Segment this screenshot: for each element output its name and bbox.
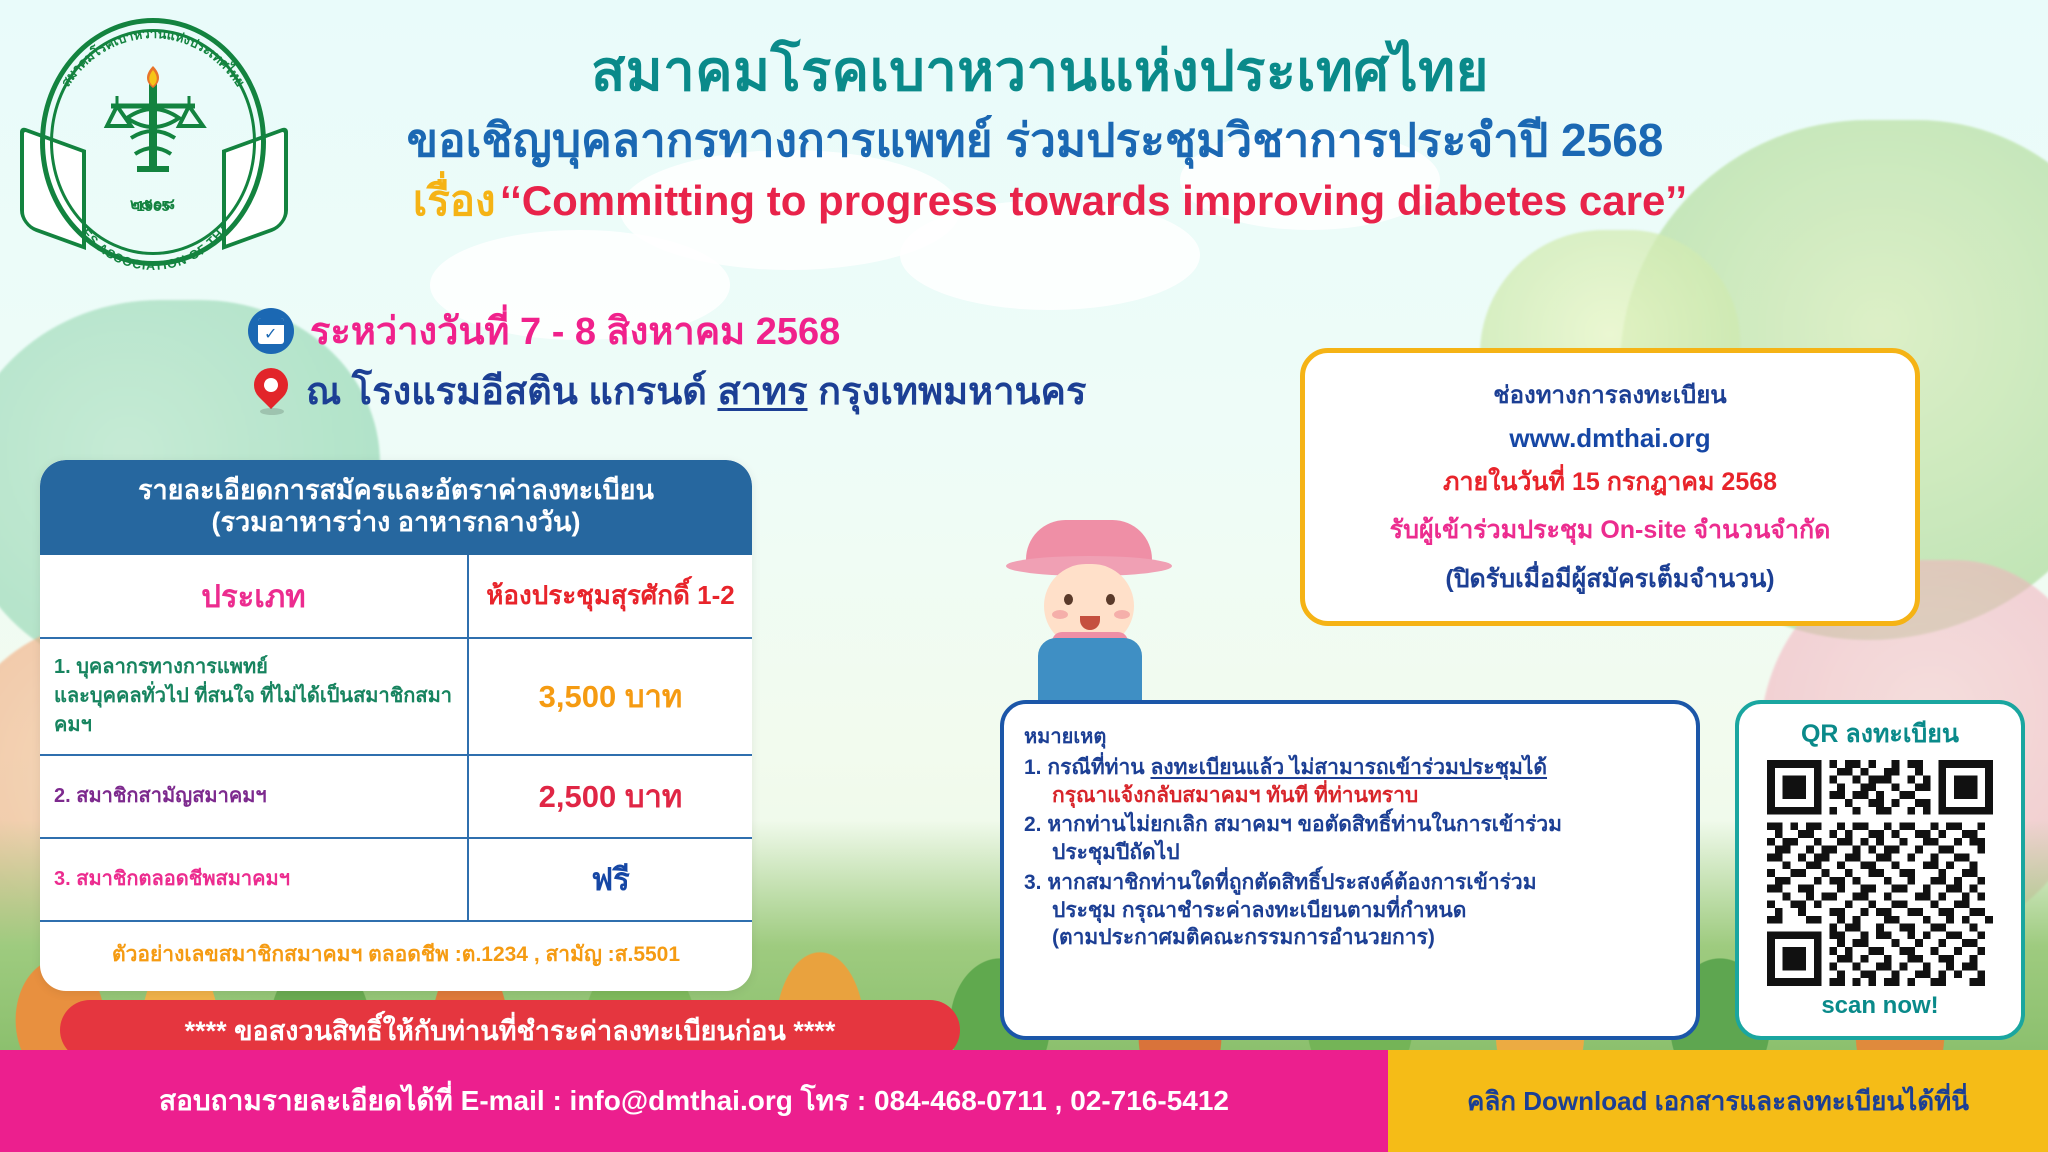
location-pin-icon <box>254 366 290 416</box>
qr-title: QR ลงทะเบียน <box>1747 714 2013 754</box>
note-1-red-line: กรุณาแจ้งกลับสมาคมฯ ทันที ที่ท่านทราบ <box>1024 782 1678 810</box>
qr-card: QR ลงทะเบียน <box>1735 700 2025 1040</box>
note-1-underlined: ลงทะเบียนแล้ว ไม่สามารถเข้าร่วมประชุมได้ <box>1151 756 1548 779</box>
topic-title-en: ‘‘Committing to progress towards improvi… <box>500 177 1687 224</box>
place-prefix: ณ โรงแรมอีสติน แกรนด์ <box>306 371 718 413</box>
fee-table-card: รายละเอียดการสมัครและอัตราค่าลงทะเบียน (… <box>40 460 752 991</box>
place-underlined: สาทร <box>718 371 808 413</box>
footer-contact: สอบถามรายละเอียดได้ที่ E-mail : info@dmt… <box>0 1050 1388 1152</box>
topic-prefix: เรื่อง <box>413 177 496 224</box>
table-header-row: ประเภท ห้องประชุมสุรศักดิ์ 1-2 <box>40 555 752 638</box>
calendar-icon <box>248 308 294 354</box>
table-row: 2. สมาชิกสามัญสมาคมฯ 2,500 บาท <box>40 755 752 838</box>
column-header-room: ห้องประชุมสุรศักดิ์ 1-2 <box>468 555 752 638</box>
fee-row-2-price: 2,500 บาท <box>468 755 752 838</box>
topic-line: เรื่อง ‘‘Committing to progress towards … <box>150 178 1950 224</box>
column-header-type: ประเภท <box>40 555 468 638</box>
fee-table-header-line1: รายละเอียดการสมัครและอัตราค่าลงทะเบียน <box>50 474 742 506</box>
registration-capacity: รับผู้เข้าร่วมประชุม On-site จำนวนจำกัด <box>1323 510 1897 550</box>
fee-table: ประเภท ห้องประชุมสุรศักดิ์ 1-2 1. บุคลาก… <box>40 555 752 991</box>
fee-table-header-line2: (รวมอาหารว่าง อาหารกลางวัน) <box>50 506 742 538</box>
fee-row-1-label-line1: 1. บุคลากรทางการแพทย์ <box>54 653 457 682</box>
note-3-lead: 3. หากสมาชิกท่านใดที่ถูกตัดสิทธิ์ประสงค์… <box>1024 871 1537 894</box>
table-row: 1. บุคลากรทางการแพทย์ และบุคคลทั่วไป ที่… <box>40 638 752 755</box>
registration-deadline: ภายในวันที่ 15 กรกฎาคม 2568 <box>1323 462 1897 502</box>
place-suffix: กรุงเทพมหานคร <box>808 371 1087 413</box>
note-item: 1. กรณีที่ท่าน ลงทะเบียนแล้ว ไม่สามารถเข… <box>1024 754 1678 809</box>
caduceus-scales-icon <box>93 62 213 192</box>
notes-title: หมายเหตุ <box>1024 720 1678 752</box>
page-title: สมาคมโรคเบาหวานแห่งประเทศไทย <box>330 42 1750 101</box>
qr-code-icon[interactable] <box>1767 760 1993 986</box>
fee-table-header: รายละเอียดการสมัครและอัตราค่าลงทะเบียน (… <box>40 460 752 555</box>
notes-card: หมายเหตุ 1. กรณีที่ท่าน ลงทะเบียนแล้ว ไม… <box>1000 700 1700 1040</box>
note-3-extra2: (ตามประกาศมติคณะกรรมการอำนวยการ) <box>1024 924 1678 952</box>
note-item: 2. หากท่านไม่ยกเลิก สมาคมฯ ขอตัดสิทธิ์ท่… <box>1024 811 1678 866</box>
fee-row-1-label-line2: และบุคคลทั่วไป ที่สนใจ ที่ไม่ได้เป็นสมาช… <box>54 682 457 740</box>
child-illustration <box>1000 520 1180 720</box>
registration-website[interactable]: www.dmthai.org <box>1323 423 1897 454</box>
fee-table-footnote: ตัวอย่างเลขสมาชิกสมาคมฯ ตลอดชีพ :ต.1234 … <box>40 921 752 991</box>
footer-download-link[interactable]: คลิก Download เอกสารและลงทะเบียนได้ที่นี… <box>1388 1050 2048 1152</box>
note-2-extra: ประชุมปีถัดไป <box>1024 839 1678 867</box>
event-date-row: ระหว่างวันที่ 7 - 8 สิงหาคม 2568 <box>248 300 840 361</box>
fee-row-1-label: 1. บุคลากรทางการแพทย์ และบุคคลทั่วไป ที่… <box>40 638 468 755</box>
note-item: 3. หากสมาชิกท่านใดที่ถูกตัดสิทธิ์ประสงค์… <box>1024 869 1678 952</box>
page-subtitle: ขอเชิญบุคลากรทางการแพทย์ ร่วมประชุมวิชาก… <box>240 115 1830 166</box>
table-footnote-row: ตัวอย่างเลขสมาชิกสมาคมฯ ตลอดชีพ :ต.1234 … <box>40 921 752 991</box>
registration-channel-card: ช่องทางการลงทะเบียน www.dmthai.org ภายใน… <box>1300 348 1920 626</box>
fee-row-1-price: 3,500 บาท <box>468 638 752 755</box>
fee-row-3-label: 3. สมาชิกตลอดชีพสมาคมฯ <box>40 838 468 921</box>
fee-row-3-price: ฟรี <box>468 838 752 921</box>
note-3-extra: ประชุม กรุณาชำระค่าลงทะเบียนตามที่กำหนด <box>1024 897 1678 925</box>
registration-closing-note: (ปิดรับเมื่อมีผู้สมัครเต็มจำนวน) <box>1323 559 1897 599</box>
note-1-lead: 1. กรณีที่ท่าน <box>1024 756 1151 779</box>
event-place: ณ โรงแรมอีสติน แกรนด์ สาทร กรุงเทพมหานคร <box>306 360 1086 421</box>
qr-caption: scan now! <box>1747 992 2013 1020</box>
poster-root: สมาคมโรคเบาหวานแห่งประเทศไทย DIABETES AS… <box>0 0 2048 1152</box>
event-date: ระหว่างวันที่ 7 - 8 สิงหาคม 2568 <box>310 300 840 361</box>
registration-heading: ช่องทางการลงทะเบียน <box>1323 375 1897 414</box>
event-place-row: ณ โรงแรมอีสติน แกรนด์ สาทร กรุงเทพมหานคร <box>248 360 1086 421</box>
table-row: 3. สมาชิกตลอดชีพสมาคมฯ ฟรี <box>40 838 752 921</box>
footer-bar: สอบถามรายละเอียดได้ที่ E-mail : info@dmt… <box>0 1050 2048 1152</box>
fee-row-2-label: 2. สมาชิกสามัญสมาคมฯ <box>40 755 468 838</box>
note-2-lead: 2. หากท่านไม่ยกเลิก สมาคมฯ ขอตัดสิทธิ์ท่… <box>1024 813 1562 836</box>
